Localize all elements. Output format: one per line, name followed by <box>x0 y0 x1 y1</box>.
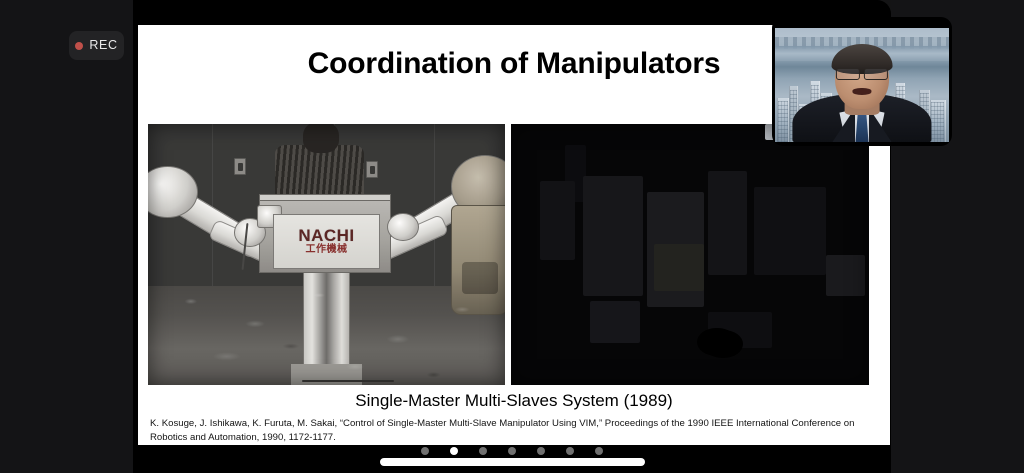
slide-caption: Single-Master Multi-Slaves System (1989) <box>138 391 890 411</box>
nachi-brand-plate: NACHI 工作機械 <box>273 214 380 269</box>
dark-shape <box>583 176 644 296</box>
operator-head <box>303 124 339 153</box>
dark-shape <box>654 244 704 291</box>
robot-scene-backdrop: NACHI 工作機械 <box>148 124 505 385</box>
dark-foreground-object <box>697 328 736 357</box>
record-dot-icon <box>75 42 83 50</box>
dark-shape <box>754 187 826 276</box>
eyeglasses-icon <box>836 68 888 78</box>
nachi-brand-text: NACHI <box>298 227 354 244</box>
slide-pagination-dots[interactable] <box>0 447 1024 455</box>
dark-shape <box>540 181 576 259</box>
dark-shape <box>590 301 640 343</box>
recording-indicator-label: REC <box>89 39 117 52</box>
wall-outlet-icon <box>366 161 378 178</box>
slide-media-row: NACHI 工作機械 <box>148 124 880 385</box>
pagination-dot-5[interactable] <box>537 447 545 455</box>
pagination-dot-3[interactable] <box>479 447 487 455</box>
pagination-dot-1[interactable] <box>421 447 429 455</box>
dark-shape <box>826 255 865 297</box>
nachi-brand-subtext: 工作機械 <box>305 245 347 255</box>
recording-indicator-button[interactable]: REC <box>69 31 124 60</box>
slide-citation: K. Kosuge, J. Ishikawa, K. Furuta, M. Sa… <box>150 417 878 444</box>
horizontal-scrollbar-thumb[interactable] <box>380 458 645 466</box>
left-toolbar-rail <box>0 0 133 473</box>
pagination-dot-2[interactable] <box>450 447 458 455</box>
dark-laboratory-photo <box>511 124 869 385</box>
dark-scene-backdrop <box>511 124 869 385</box>
concrete-floor-texture <box>148 283 505 385</box>
wall-outlet-icon <box>234 158 246 175</box>
tower <box>777 98 789 142</box>
speaker-video-frame <box>775 28 949 142</box>
presentation-viewer-window: REC Coordination of Manipulators <box>0 0 1024 473</box>
dark-shape <box>708 171 747 275</box>
pagination-dot-4[interactable] <box>508 447 516 455</box>
pagination-dot-6[interactable] <box>566 447 574 455</box>
tower <box>930 100 946 142</box>
speaker-webcam-tile[interactable] <box>772 17 952 146</box>
pagination-dot-7[interactable] <box>595 447 603 455</box>
robot-arms-photo: NACHI 工作機械 <box>148 124 505 385</box>
wall-seam <box>212 124 213 286</box>
